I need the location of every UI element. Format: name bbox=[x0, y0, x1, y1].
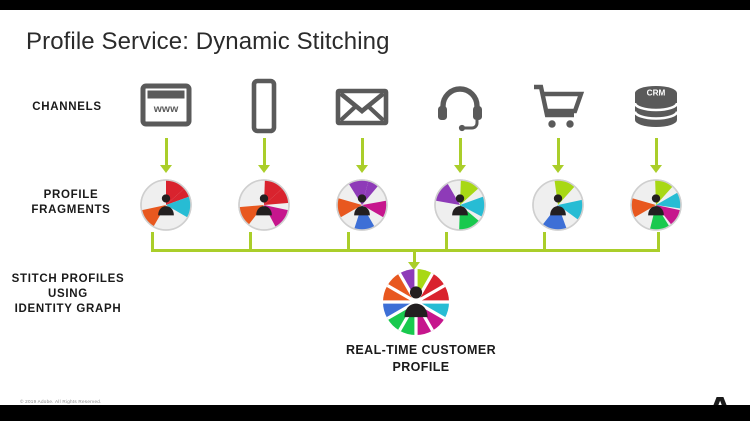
real-time-customer-profile-wheel bbox=[381, 267, 451, 337]
fragment-6 bbox=[629, 178, 683, 232]
bus-drop-5 bbox=[543, 232, 546, 252]
arrow-shaft-channel-web bbox=[165, 138, 168, 166]
letterbox-top bbox=[0, 0, 750, 10]
envelope-icon bbox=[333, 121, 391, 138]
bus-drop-3 bbox=[347, 232, 350, 252]
channel-crm: CRM bbox=[627, 78, 685, 134]
row-label-line: USING bbox=[2, 287, 134, 302]
arrow-head-channel-mobile bbox=[258, 165, 270, 173]
channel-commerce bbox=[529, 78, 587, 134]
bus-drop-1 bbox=[151, 232, 154, 252]
slide-root: Profile Service: Dynamic Stitching CHANN… bbox=[0, 0, 750, 421]
caption-line: PROFILE bbox=[316, 359, 526, 376]
shopping-cart-icon bbox=[529, 121, 587, 138]
arrow-head-channel-commerce bbox=[552, 165, 564, 173]
fragment-2 bbox=[237, 178, 291, 232]
row-label-line: PROFILE bbox=[8, 188, 134, 203]
channel-email bbox=[333, 78, 391, 134]
customer-profile-caption: REAL-TIME CUSTOMER PROFILE bbox=[316, 342, 526, 376]
fragment-1 bbox=[139, 178, 193, 232]
arrow-shaft-channel-commerce bbox=[557, 138, 560, 166]
copyright-text: © 2019 Adobe. All Rights Reserved. bbox=[20, 399, 102, 404]
bus-arrow-shaft bbox=[413, 249, 416, 263]
row-label-channels: CHANNELS bbox=[8, 100, 126, 115]
row-label-stitch-profiles: STITCH PROFILES USING IDENTITY GRAPH bbox=[2, 272, 134, 317]
row-label-line: FRAGMENTS bbox=[8, 203, 134, 218]
fragment-3 bbox=[335, 178, 389, 232]
slide-canvas: Profile Service: Dynamic Stitching CHANN… bbox=[0, 10, 750, 405]
svg-text:CRM: CRM bbox=[647, 88, 666, 97]
arrow-shaft-channel-mobile bbox=[263, 138, 266, 166]
channel-call-center bbox=[431, 78, 489, 134]
bus-horizontal bbox=[152, 249, 658, 252]
fragment-5 bbox=[531, 178, 585, 232]
mobile-phone-icon bbox=[235, 121, 293, 138]
page-title: Profile Service: Dynamic Stitching bbox=[26, 28, 390, 56]
row-label-profile-fragments: PROFILE FRAGMENTS bbox=[8, 188, 134, 218]
arrow-shaft-channel-call-center bbox=[459, 138, 462, 166]
arrow-shaft-channel-crm bbox=[655, 138, 658, 166]
letterbox-bottom bbox=[0, 405, 750, 421]
row-label-line: STITCH PROFILES bbox=[2, 272, 134, 287]
svg-text:www: www bbox=[153, 103, 179, 115]
bus-drop-4 bbox=[445, 232, 448, 252]
arrow-shaft-channel-email bbox=[361, 138, 364, 166]
headset-icon bbox=[431, 121, 489, 138]
bus-drop-2 bbox=[249, 232, 252, 252]
browser-www-icon: www bbox=[137, 121, 195, 138]
channel-web: www bbox=[137, 78, 195, 134]
channel-mobile bbox=[235, 78, 293, 134]
arrow-head-channel-email bbox=[356, 165, 368, 173]
fragment-4 bbox=[433, 178, 487, 232]
caption-line: REAL-TIME CUSTOMER bbox=[316, 342, 526, 359]
arrow-head-channel-crm bbox=[650, 165, 662, 173]
arrow-head-channel-call-center bbox=[454, 165, 466, 173]
arrow-head-channel-web bbox=[160, 165, 172, 173]
bus-drop-6 bbox=[657, 232, 660, 252]
row-label-line: IDENTITY GRAPH bbox=[2, 302, 134, 317]
database-crm-icon: CRM bbox=[627, 121, 685, 138]
